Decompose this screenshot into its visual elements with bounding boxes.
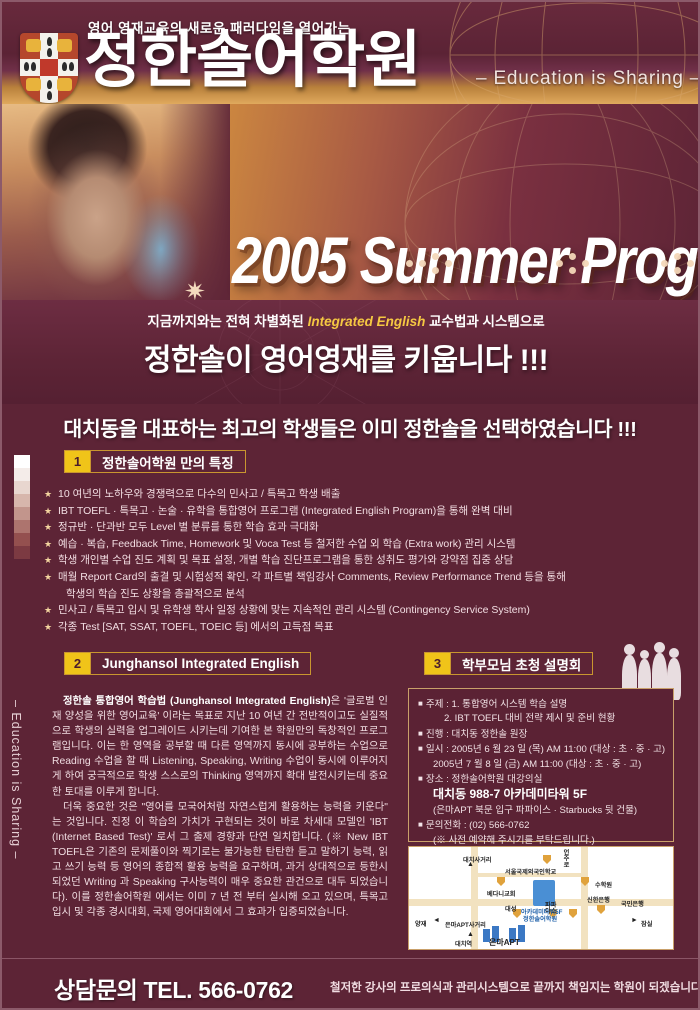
bullet-square-icon: ■ [418,729,423,738]
section2-paragraph-1: 정한솔 통합영어 학습법 (Junghansol Integrated Engl… [52,694,388,800]
poster-root: 영어 영재교육의 새로운 패러다임을 열어가는 정한솔어학원 – Educati… [0,0,700,1010]
feature-item: 10 여년의 노하우와 경쟁력으로 다수의 민사고 / 특목고 학생 배출 [44,486,654,503]
info-row: ■주제 : 1. 통합영어 시스템 학습 설명 [418,697,664,712]
tagline-band: 지금까지와는 전혀 차별화된 Integrated English 교수법과 시… [0,300,700,404]
section-header-1: 1 정한솔어학원 만의 특징 [64,450,246,473]
section2-para1-text: 은 '글로벌 인재 양성을 위한 영어교육' 이라는 목표로 지난 10 여년 … [52,696,388,798]
color-swatch-3 [14,494,30,507]
feature-item: 정규반 · 단과반 모두 Level 별 분류를 통한 학습 효과 극대화 [44,519,654,536]
bottom-note: 철저한 강사의 프로의식과 관리시스템으로 끝까지 책임지는 학원이 되겠습니다… [330,979,700,995]
section-label-3: 학부모님 초청 설명회 [450,653,592,674]
bullet-square-icon: ■ [418,744,423,753]
contact-telephone: 상담문의 TEL. 566-0762 [54,971,293,1005]
feature-item: 학생 개인별 수업 진도 계획 및 목표 설정, 개별 학습 진단프로그램을 통… [44,552,654,569]
section-header-2: 2 Junghansol Integrated English [64,652,311,675]
info-row: 2005년 7 월 8 일 (금) AM 11:00 (대상 : 초 · 중 ·… [418,758,664,772]
info-row: ■장소 : 정한솔어학원 대강의실 [418,772,664,787]
section-label-1: 정한솔어학원 만의 특징 [90,451,245,472]
bullet-square-icon: ■ [418,699,423,708]
info-row: (은마APT 북문 입구 파파이스 · Starbucks 뒷 건물) [418,804,664,818]
tagline-post: 교수법과 시스템으로 [425,314,544,329]
university-crest-icon [20,33,78,103]
bullet-square-icon: ■ [418,774,423,783]
header-slogan: – Education is Sharing – [476,68,700,90]
academy-logo-text: 정한솔어학원 [84,30,420,92]
info-row: ■문의전화 : (02) 566-0762 [418,818,664,833]
main-headline: 대치동을 대표하는 최고의 학생들은 이미 정한솔을 선택하였습니다 !!! [0,412,700,442]
feature-item: IBT TOEFL · 특목고 · 논술 · 유학을 통합영어 프로그램 (In… [44,503,654,520]
color-swatch-0 [14,455,30,468]
bullet-square-icon: ■ [418,820,423,829]
map-center-label-2: 정한솔어학원 [523,914,557,923]
feature-item: 각종 Test [SAT, SSAT, TOEFL, TOEIC 등] 에서의 … [44,619,654,636]
section2-body: 정한솔 통합영어 학습법 (Junghansol Integrated Engl… [52,694,388,920]
tagline-emphasis: Integrated English [308,314,426,329]
info-row: ■진행 : 대치동 정한솔 원장 [418,727,664,742]
section-number-2: 2 [65,653,90,674]
decorative-dots [406,250,696,280]
location-map: 대치사거리 서울국제외국인학교 언주로 수학원 베다니교회 신한은행 국민은행 … [408,846,674,950]
color-swatch-7 [14,546,30,559]
section2-paragraph-2: 더욱 중요한 것은 "영어를 모국어처럼 자연스럽게 활용하는 능력을 키운다"… [52,800,388,921]
section-number-1: 1 [65,451,90,472]
color-swatch-4 [14,507,30,520]
section2-lead: 정한솔 통합영어 학습법 (Junghansol Integrated Engl… [63,696,331,707]
section-header-3: 3 학부모님 초청 설명회 [424,652,593,675]
vertical-slogan: – Education is Sharing – [9,700,23,860]
tagline-line-1: 지금까지와는 전혀 차별화된 Integrated English 교수법과 시… [0,310,692,330]
info-row: 대치동 988-7 아카데미타워 5F [418,787,664,803]
tagline-line-2: 정한솔이 영어영재를 키웁니다 !!! [0,335,692,379]
feature-item: 예습 · 복습, Feedback Time, Homework 및 Voca … [44,536,654,553]
bottom-contact-bar: 상담문의 TEL. 566-0762 철저한 강사의 프로의식과 관리시스템으로… [0,958,700,1010]
tagline-pre: 지금까지와는 전혀 차별화된 [147,314,307,329]
feature-item: 학생의 학습 진도 상황을 총괄적으로 분석 [44,586,654,603]
color-swatch-strip [14,455,30,559]
info-row: 2. IBT TOEFL 대비 전략 제시 및 준비 현황 [418,712,664,726]
color-swatch-2 [14,481,30,494]
color-swatch-5 [14,520,30,533]
color-swatch-6 [14,533,30,546]
feature-list: 10 여년의 노하우와 경쟁력으로 다수의 민사고 / 특목고 학생 배출IBT… [44,486,654,635]
sparkle-star-icon: ✷ [184,276,206,300]
feature-item: 민사고 / 특목고 입시 및 유학생 학사 일정 상황에 맞는 지속적인 관리 … [44,602,654,619]
section-number-3: 3 [425,653,450,674]
feature-item: 매월 Report Card의 출결 및 시험성적 확인, 각 파트별 책임강사… [44,569,654,586]
section-label-2: Junghansol Integrated English [90,653,310,674]
color-swatch-1 [14,468,30,481]
seminar-info-box: ■주제 : 1. 통합영어 시스템 학습 설명2. IBT TOEFL 대비 전… [408,688,674,842]
student-photo [0,104,230,300]
info-row: ■일시 : 2005년 6 월 23 일 (목) AM 11:00 (대상 : … [418,742,664,757]
header-band: 영어 영재교육의 새로운 패러다임을 열어가는 정한솔어학원 – Educati… [0,0,700,104]
